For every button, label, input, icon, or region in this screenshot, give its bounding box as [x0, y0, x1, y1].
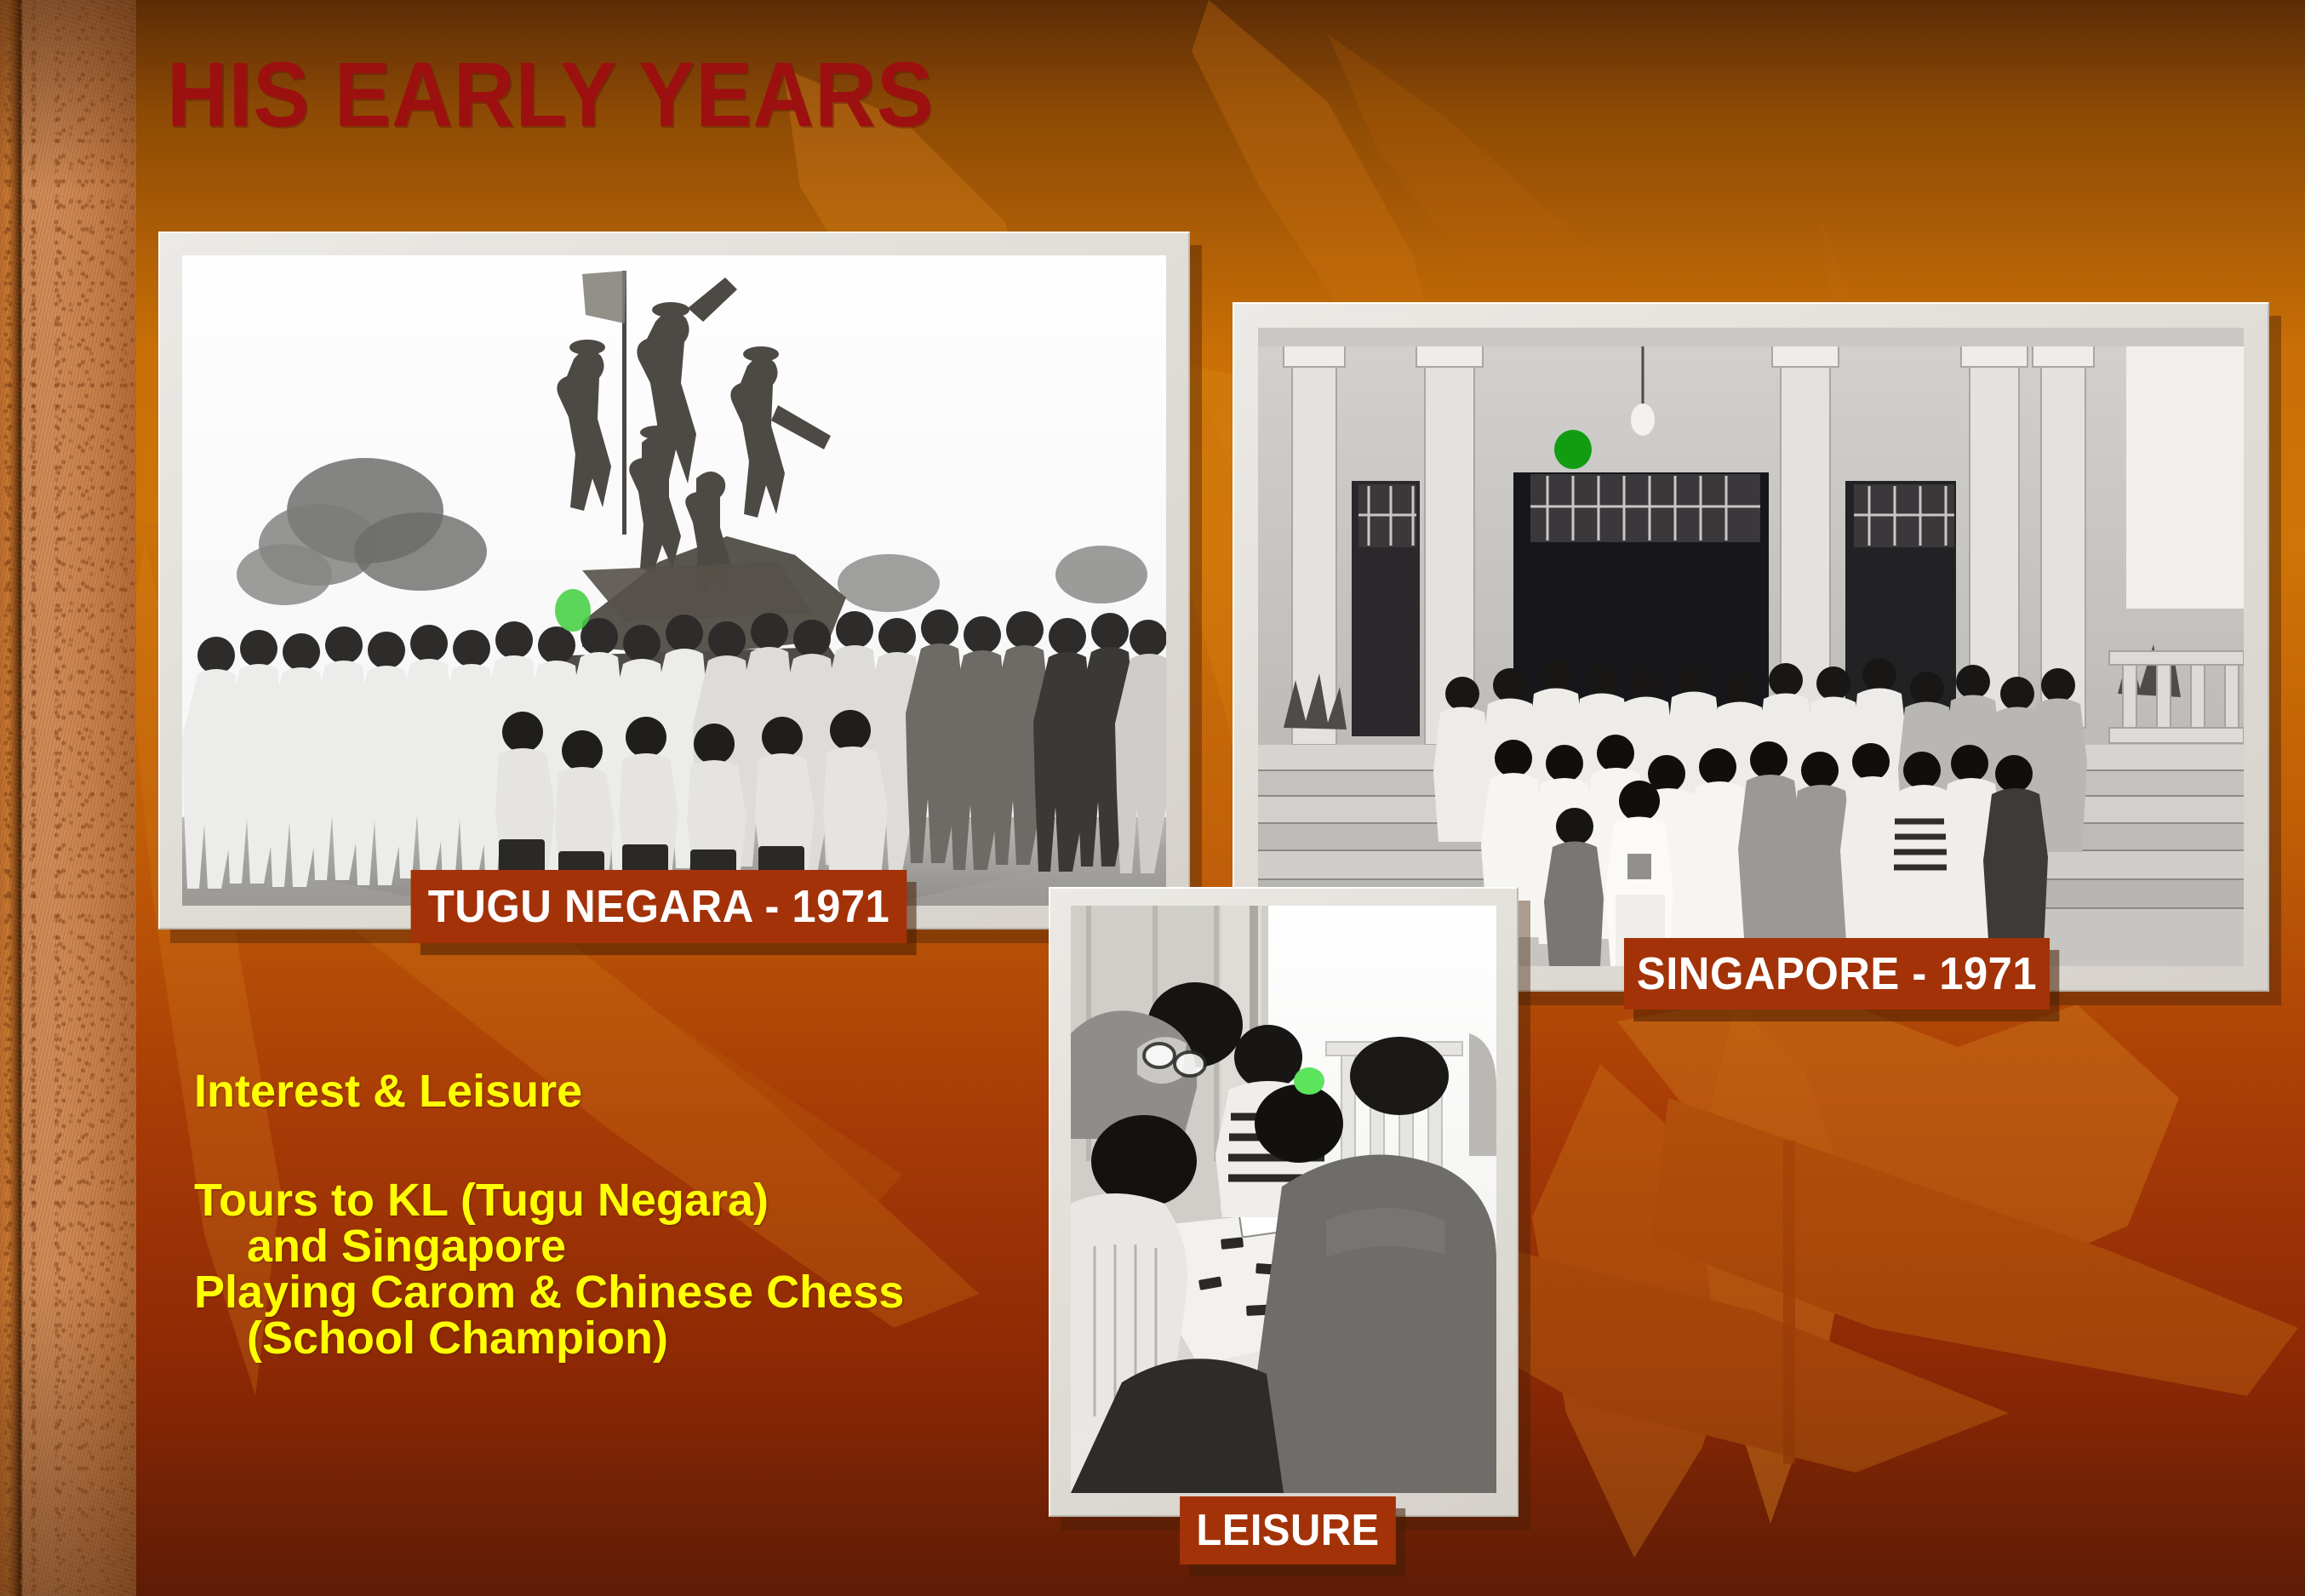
body-line-3: Playing Carom & Chinese Chess [194, 1269, 904, 1315]
presentation-slide: HIS EARLY YEARS [0, 0, 2305, 1596]
photo-leisure [1071, 906, 1496, 1493]
left-texture-band [0, 0, 136, 1596]
caption-tugu-negara-label: TUGU NEGARA - 1971 [428, 880, 889, 933]
photo-tugu-negara [182, 255, 1166, 906]
body-heading: Interest & Leisure [194, 1068, 904, 1114]
caption-singapore-label: SINGAPORE - 1971 [1637, 947, 2037, 1000]
cork-texture-grain [0, 0, 136, 1596]
green-highlight-marker-leisure [1294, 1067, 1324, 1095]
caption-singapore: SINGAPORE - 1971 [1624, 938, 2050, 1010]
photo-singapore-image [1258, 328, 2244, 966]
caption-leisure-label: LEISURE [1196, 1505, 1379, 1556]
body-line-4: (School Champion) [194, 1315, 904, 1361]
body-text-block: Interest & Leisure Tours to KL (Tugu Neg… [194, 1068, 904, 1361]
photo-frame-tugu-negara [158, 232, 1190, 930]
page-title: HIS EARLY YEARS [167, 41, 934, 147]
body-spacer [194, 1114, 904, 1177]
photo-tugu-negara-image [182, 255, 1166, 906]
caption-leisure: LEISURE [1180, 1496, 1396, 1565]
photo-frame-leisure [1049, 887, 1519, 1517]
body-line-1: Tours to KL (Tugu Negara) [194, 1177, 904, 1223]
green-highlight-marker-tugu [555, 589, 591, 632]
caption-tugu-negara: TUGU NEGARA - 1971 [411, 870, 907, 943]
green-highlight-marker-singapore [1554, 430, 1592, 469]
photo-singapore [1258, 328, 2244, 966]
body-line-2: and Singapore [194, 1223, 904, 1269]
photo-leisure-image [1071, 906, 1496, 1493]
